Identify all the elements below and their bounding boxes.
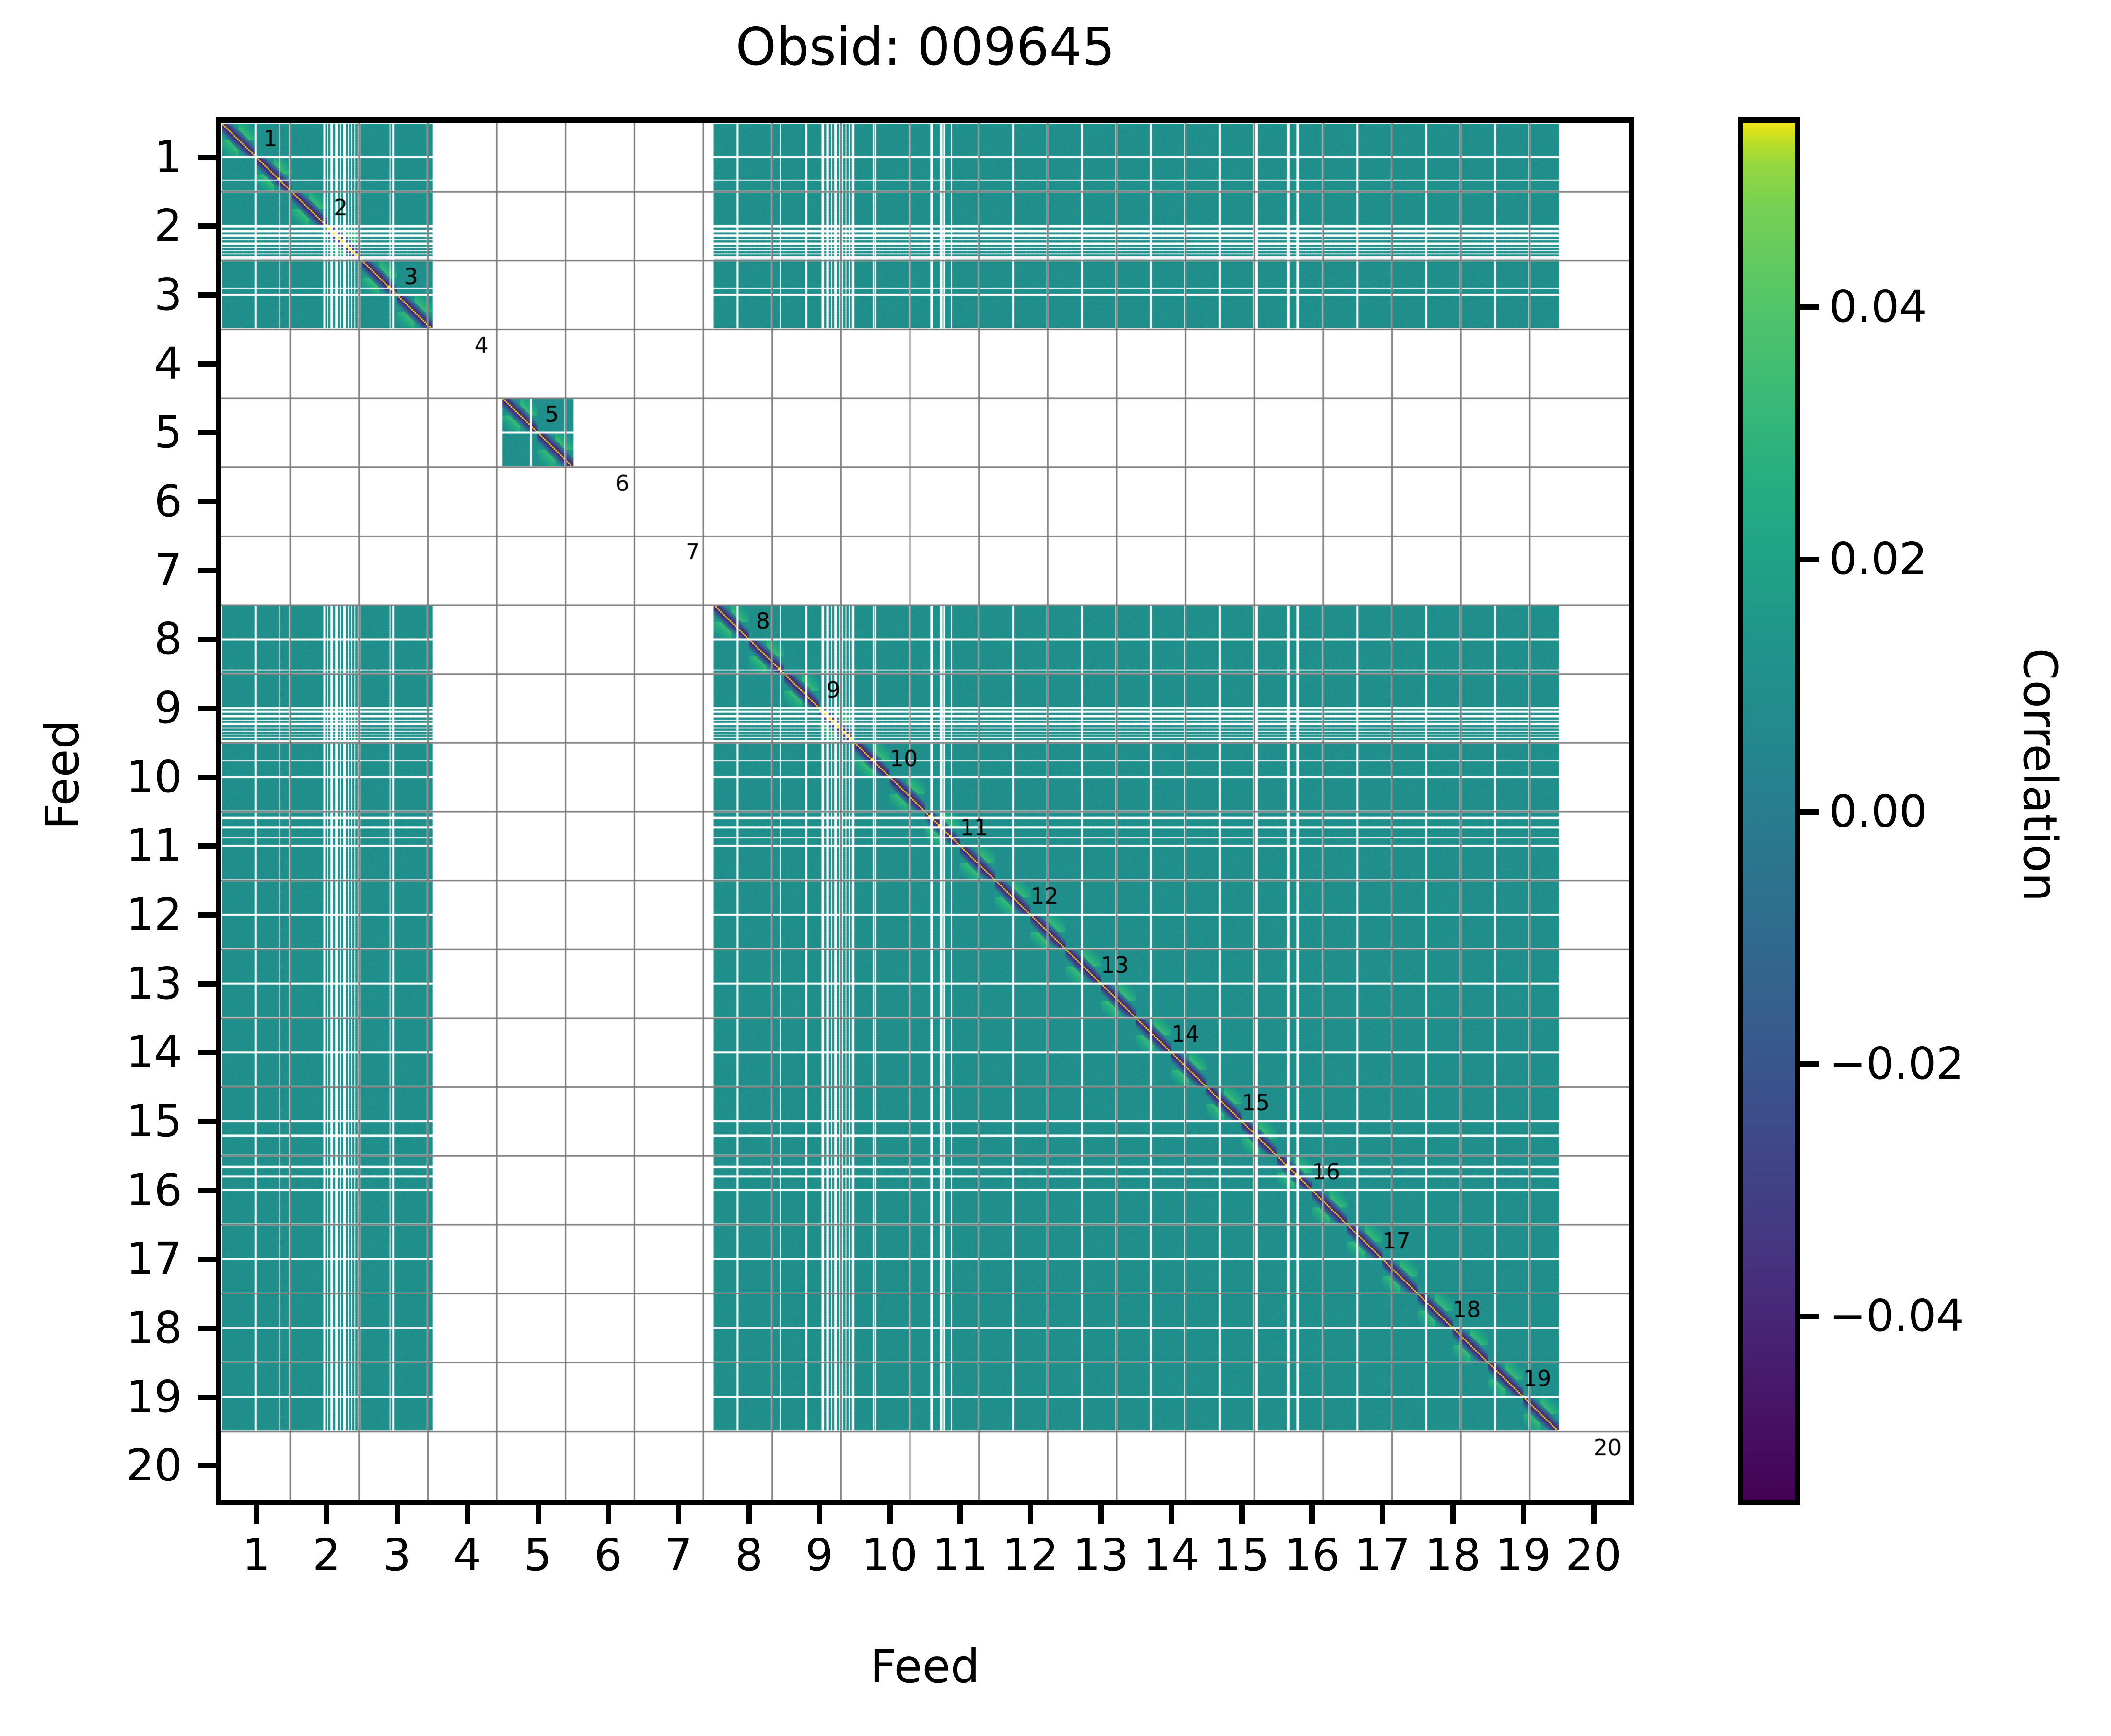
y-tick-mark [198, 361, 216, 367]
y-tick-label-14: 14 [14, 1030, 182, 1074]
y-tick-mark [198, 1395, 216, 1400]
colorbar-tick-label: 0.02 [1829, 537, 1927, 581]
y-tick-mark [198, 637, 216, 642]
y-tick-mark [198, 775, 216, 780]
x-tick-mark [465, 1505, 470, 1524]
y-tick-mark [198, 1463, 216, 1468]
x-tick-mark [817, 1505, 822, 1524]
x-tick-mark [395, 1505, 400, 1524]
y-tick-mark [198, 499, 216, 504]
y-tick-label-20: 20 [14, 1444, 182, 1488]
colorbar-tick-label: 0.00 [1829, 790, 1927, 834]
x-tick-mark [1309, 1505, 1315, 1524]
y-tick-label-17: 17 [14, 1237, 182, 1281]
colorbar-tick-label: 0.04 [1829, 285, 1927, 329]
y-tick-mark [198, 843, 216, 849]
x-tick-label-20: 20 [1541, 1533, 1646, 1577]
y-tick-label-2: 2 [14, 204, 182, 248]
y-tick-mark [198, 1050, 216, 1055]
x-tick-mark [887, 1505, 893, 1524]
x-axis-label: Feed [216, 1640, 1634, 1693]
y-tick-mark [198, 155, 216, 160]
y-tick-label-16: 16 [14, 1168, 182, 1212]
colorbar-tick-mark [1800, 809, 1819, 815]
y-tick-label-18: 18 [14, 1306, 182, 1350]
y-tick-label-15: 15 [14, 1099, 182, 1143]
x-tick-mark [1169, 1505, 1174, 1524]
x-tick-mark [1450, 1505, 1456, 1524]
colorbar-tick-mark [1800, 1061, 1819, 1067]
y-tick-label-5: 5 [14, 410, 182, 454]
x-tick-mark [1521, 1505, 1526, 1524]
x-tick-mark [536, 1505, 541, 1524]
y-tick-mark [198, 981, 216, 987]
y-tick-mark [198, 1326, 216, 1331]
x-tick-mark [957, 1505, 963, 1524]
y-tick-label-19: 19 [14, 1375, 182, 1419]
y-tick-label-6: 6 [14, 479, 182, 524]
heatmap-image [221, 123, 1629, 1500]
y-tick-label-4: 4 [14, 342, 182, 386]
y-tick-mark [198, 706, 216, 711]
x-tick-mark [676, 1505, 681, 1524]
page-title: Obsid: 009645 [216, 19, 1635, 76]
correlation-matrix-plot[interactable] [216, 117, 1634, 1505]
y-tick-mark [198, 223, 216, 229]
x-tick-mark [606, 1505, 611, 1524]
x-tick-mark [254, 1505, 259, 1524]
colorbar-tick-mark [1800, 557, 1819, 562]
y-tick-mark [198, 1188, 216, 1193]
colorbar-tick-mark [1800, 304, 1819, 310]
x-tick-mark [1098, 1505, 1104, 1524]
figure-canvas: Obsid: 009645 12345678910111213141516171… [0, 0, 2111, 1736]
y-tick-mark [198, 430, 216, 435]
colorbar-tick-label: −0.04 [1829, 1294, 1964, 1338]
x-tick-mark [746, 1505, 752, 1524]
colorbar-gradient[interactable] [1738, 117, 1800, 1505]
colorbar-tick-label: −0.02 [1829, 1042, 1964, 1086]
x-tick-mark [1380, 1505, 1385, 1524]
y-tick-label-1: 1 [14, 135, 182, 179]
y-tick-label-13: 13 [14, 962, 182, 1006]
x-tick-mark [1028, 1505, 1033, 1524]
y-tick-label-3: 3 [14, 273, 182, 317]
x-tick-mark [1591, 1505, 1597, 1524]
x-tick-mark [324, 1505, 329, 1524]
y-axis-label: Feed [35, 607, 89, 943]
y-tick-mark [198, 1257, 216, 1262]
x-tick-mark [1239, 1505, 1245, 1524]
colorbar-label: Correlation [2013, 607, 2067, 943]
y-tick-mark [198, 292, 216, 298]
y-tick-mark [198, 568, 216, 573]
y-tick-mark [198, 1119, 216, 1124]
colorbar-tick-mark [1800, 1314, 1819, 1319]
y-tick-mark [198, 912, 216, 918]
y-tick-label-7: 7 [14, 548, 182, 593]
